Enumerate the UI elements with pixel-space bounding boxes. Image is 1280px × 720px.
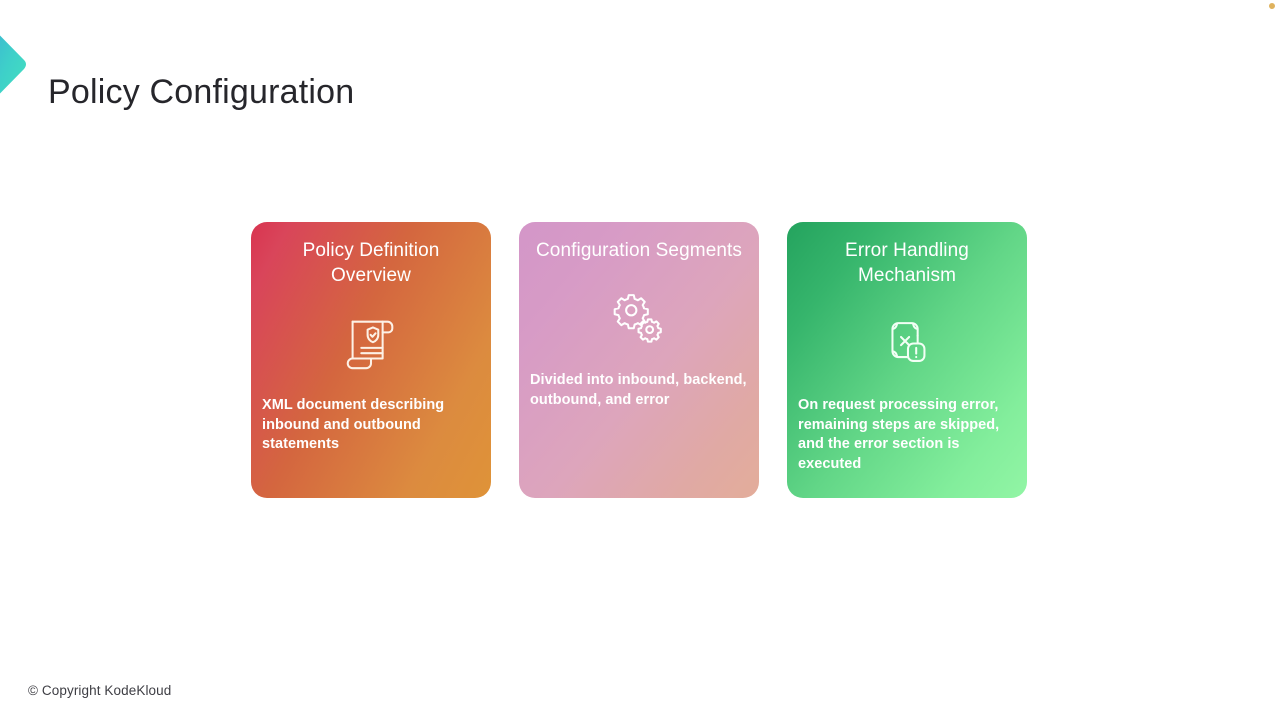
card-description-wrap: XML document describing inbound and outb… bbox=[260, 386, 482, 498]
page-title: Policy Configuration bbox=[48, 73, 354, 112]
document-error-alert-icon bbox=[796, 300, 1018, 386]
cards-row: Policy Definition Overview XML document … bbox=[251, 222, 1029, 498]
card-title: Policy Definition Overview bbox=[260, 238, 482, 288]
card-description: On request processing error, remaining s… bbox=[796, 396, 1018, 474]
card-policy-definition-overview[interactable]: Policy Definition Overview XML document … bbox=[251, 222, 491, 498]
card-description-wrap: Divided into inbound, backend, outbound,… bbox=[528, 361, 750, 498]
page-header: Policy Configuration bbox=[0, 0, 1280, 130]
card-description: XML document describing inbound and outb… bbox=[260, 396, 482, 455]
scroll-shield-check-icon bbox=[260, 300, 482, 386]
copyright-footer: © Copyright KodeKloud bbox=[28, 683, 171, 698]
card-configuration-segments[interactable]: Configuration Segments Divided into inbo… bbox=[519, 222, 759, 498]
chevron-right-logo-icon bbox=[0, 12, 48, 117]
card-error-handling-mechanism[interactable]: Error Handling Mechanism On bbox=[787, 222, 1027, 498]
card-title: Configuration Segments bbox=[528, 238, 750, 263]
card-title: Error Handling Mechanism bbox=[796, 238, 1018, 288]
card-description: Divided into inbound, backend, outbound,… bbox=[528, 371, 750, 410]
gears-icon bbox=[528, 275, 750, 361]
card-description-wrap: On request processing error, remaining s… bbox=[796, 386, 1018, 498]
